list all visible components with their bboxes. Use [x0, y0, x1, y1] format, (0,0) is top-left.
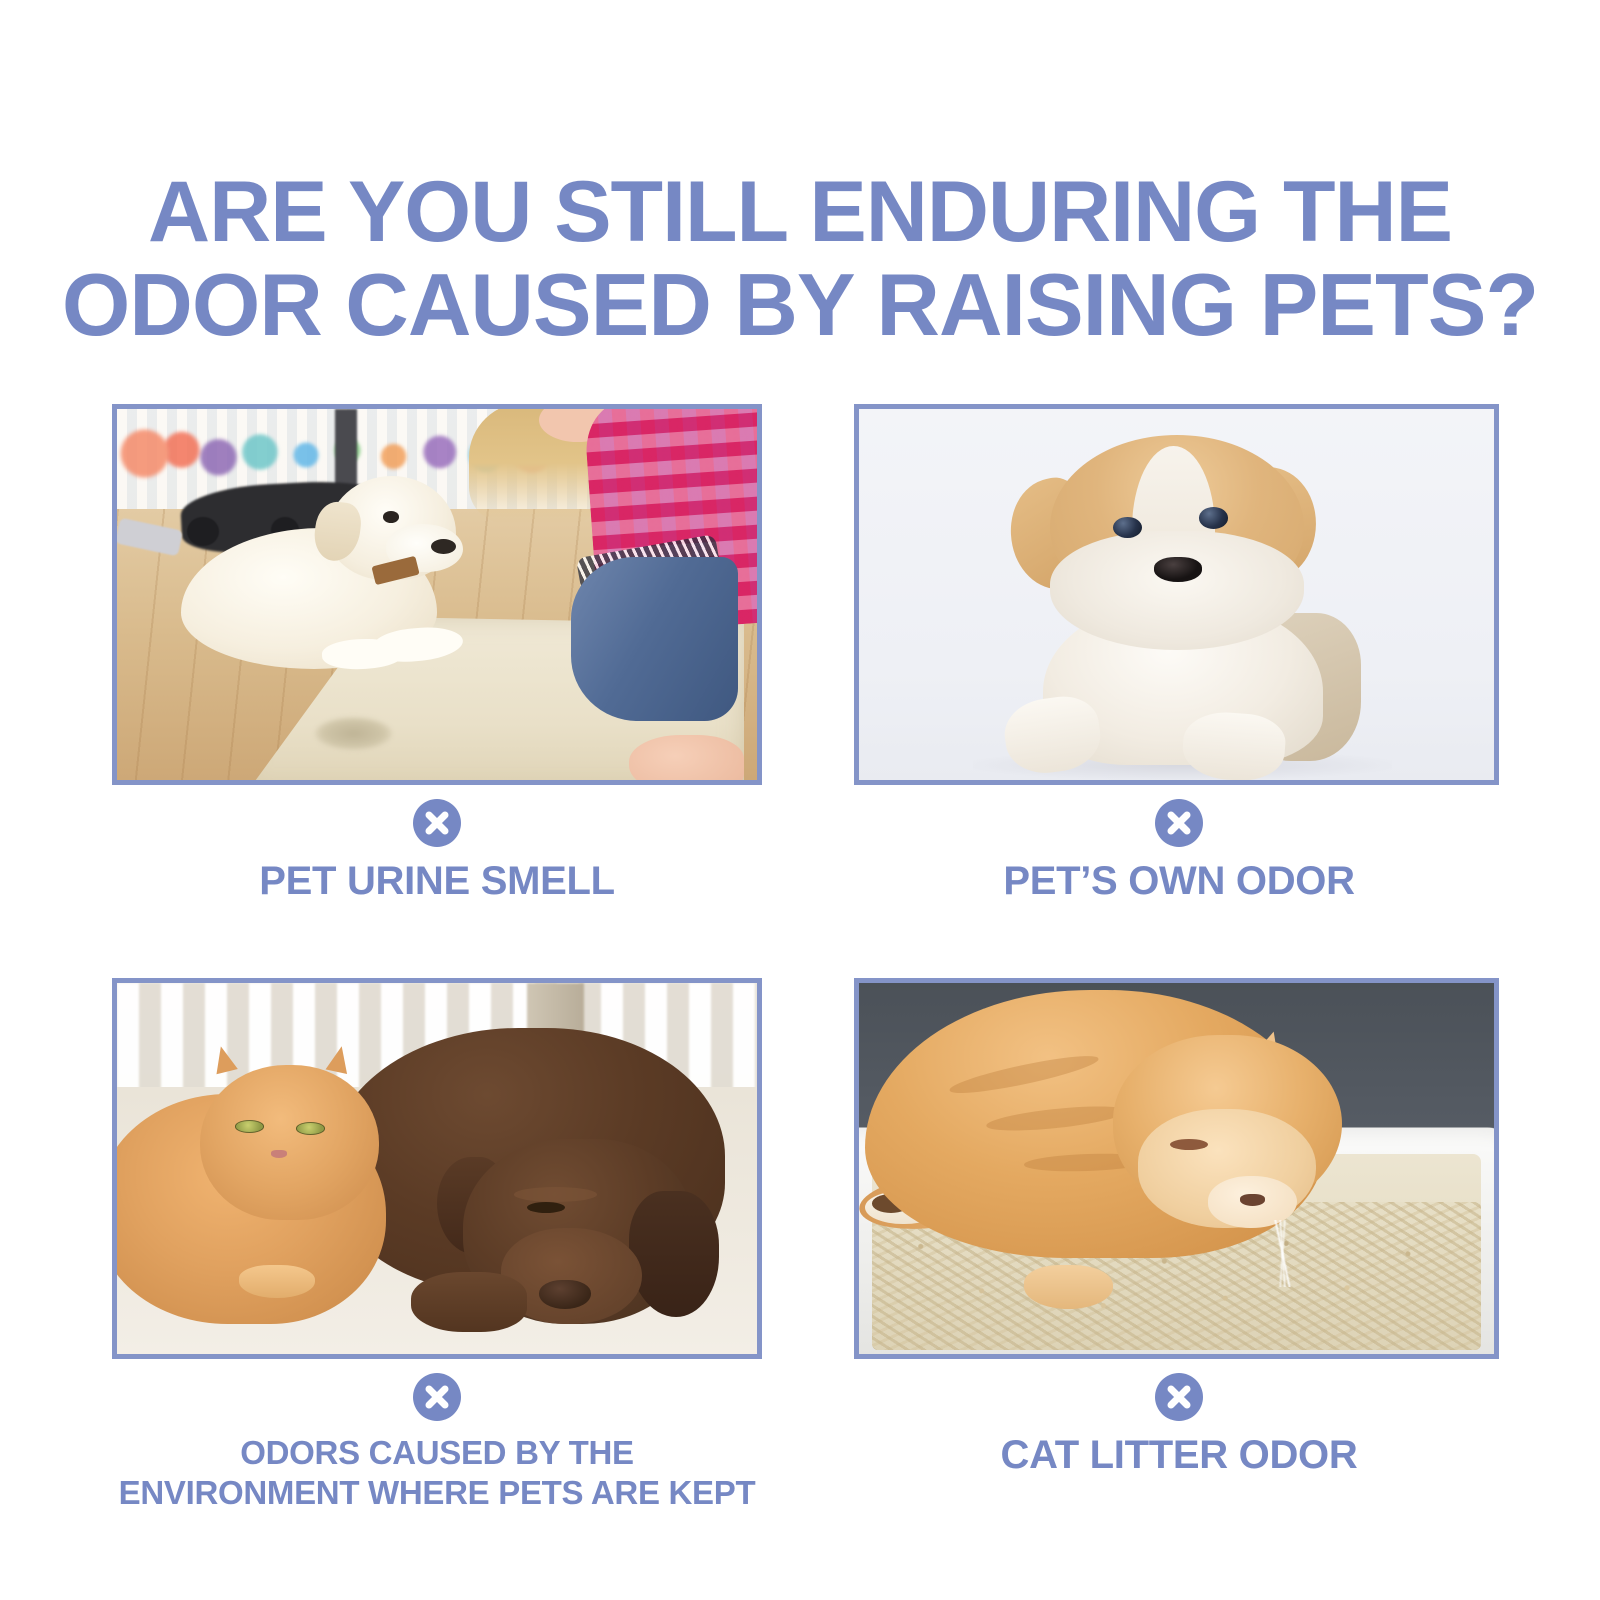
x-circle-icon [413, 799, 461, 847]
page-title-line-1: ARE YOU STILL ENDURING THE [0, 166, 1600, 258]
odor-card-caption: CAT LITTER ODOR [854, 1433, 1504, 1478]
x-circle-icon [1155, 1373, 1203, 1421]
odor-card-pets-own-odor[interactable]: PET’S OWN ODOR [854, 404, 1504, 904]
odor-card-environment-odors[interactable]: ODORS CAUSED BY THE ENVIRONMENT WHERE PE… [112, 978, 762, 1512]
photo-frame [854, 978, 1499, 1359]
odor-card-pet-urine-smell[interactable]: PET URINE SMELL [112, 404, 762, 904]
photo-frame [854, 404, 1499, 785]
photo-cat-and-labrador [117, 983, 757, 1354]
photo-frame [112, 404, 762, 785]
odor-card-caption: ODORS CAUSED BY THE ENVIRONMENT WHERE PE… [112, 1433, 762, 1512]
poster-canvas: ARE YOU STILL ENDURING THE ODOR CAUSED B… [0, 0, 1600, 1600]
odor-card-cat-litter-odor[interactable]: CAT LITTER ODOR [854, 978, 1504, 1478]
photo-cat-in-litter-box [859, 983, 1494, 1354]
odor-card-caption: PET’S OWN ODOR [854, 859, 1504, 904]
page-title-line-2: ODOR CAUSED BY RAISING PETS? [0, 258, 1600, 352]
photo-corgi-puppy [859, 409, 1494, 780]
photo-puppy-on-stained-rug [117, 409, 757, 780]
photo-frame [112, 978, 762, 1359]
x-circle-icon [413, 1373, 461, 1421]
odor-cause-grid: PET URINE SMELL [112, 404, 1497, 1524]
page-title: ARE YOU STILL ENDURING THE ODOR CAUSED B… [0, 166, 1600, 352]
x-circle-icon [1155, 799, 1203, 847]
odor-card-caption: PET URINE SMELL [112, 859, 762, 904]
